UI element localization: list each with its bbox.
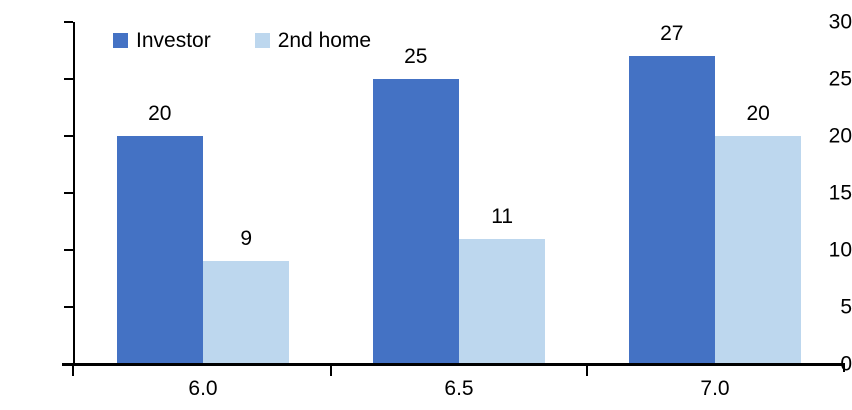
bar-chart: 051015202530 20925112720 6.06.57.0 Inves… (0, 0, 852, 410)
y-axis-line (73, 22, 75, 365)
bar-investor-6.0 (117, 136, 203, 364)
legend-item-investor[interactable]: Investor (113, 30, 211, 51)
y-axis-tick-label: 5 (796, 297, 852, 318)
bar-value-label: 9 (240, 228, 252, 249)
x-axis-right-end-tick (843, 363, 845, 372)
y-axis-tick (64, 192, 73, 194)
chart-legend: Investor2nd home (113, 30, 371, 51)
bar-value-label: 27 (660, 23, 683, 44)
legend-swatch-2nd-home (255, 33, 270, 48)
y-axis-tick-label: 15 (796, 183, 852, 204)
bar-2nd-home-6.0 (203, 261, 289, 364)
y-axis-tick-label: 20 (796, 126, 852, 147)
legend-swatch-investor (113, 33, 128, 48)
x-axis-line (62, 363, 845, 366)
y-axis-tick (64, 249, 73, 251)
y-axis-tick-label: 30 (796, 12, 852, 33)
legend-item-label: 2nd home (278, 30, 371, 51)
bar-2nd-home-7.0 (715, 136, 801, 364)
y-axis-tick (64, 78, 73, 80)
bar-investor-7.0 (629, 56, 715, 364)
bar-2nd-home-6.5 (459, 239, 545, 364)
bar-value-label: 20 (747, 103, 770, 124)
bar-value-label: 25 (404, 46, 427, 67)
legend-item-2nd-home[interactable]: 2nd home (255, 30, 371, 51)
x-axis-tick (330, 366, 332, 376)
x-axis-tick-label: 7.0 (700, 378, 729, 399)
bar-investor-6.5 (373, 79, 459, 364)
x-axis-tick-label: 6.5 (444, 378, 473, 399)
x-axis-tick (586, 366, 588, 376)
bar-value-label: 20 (148, 103, 171, 124)
legend-item-label: Investor (136, 30, 211, 51)
x-axis-origin-tick (72, 366, 74, 376)
y-axis-tick (64, 306, 73, 308)
y-axis-tick-label: 25 (796, 69, 852, 90)
bar-value-label: 11 (491, 206, 513, 227)
x-axis-tick-label: 6.0 (188, 378, 217, 399)
y-axis-tick (64, 135, 73, 137)
y-axis-tick (64, 21, 73, 23)
y-axis-tick-label: 10 (796, 240, 852, 261)
